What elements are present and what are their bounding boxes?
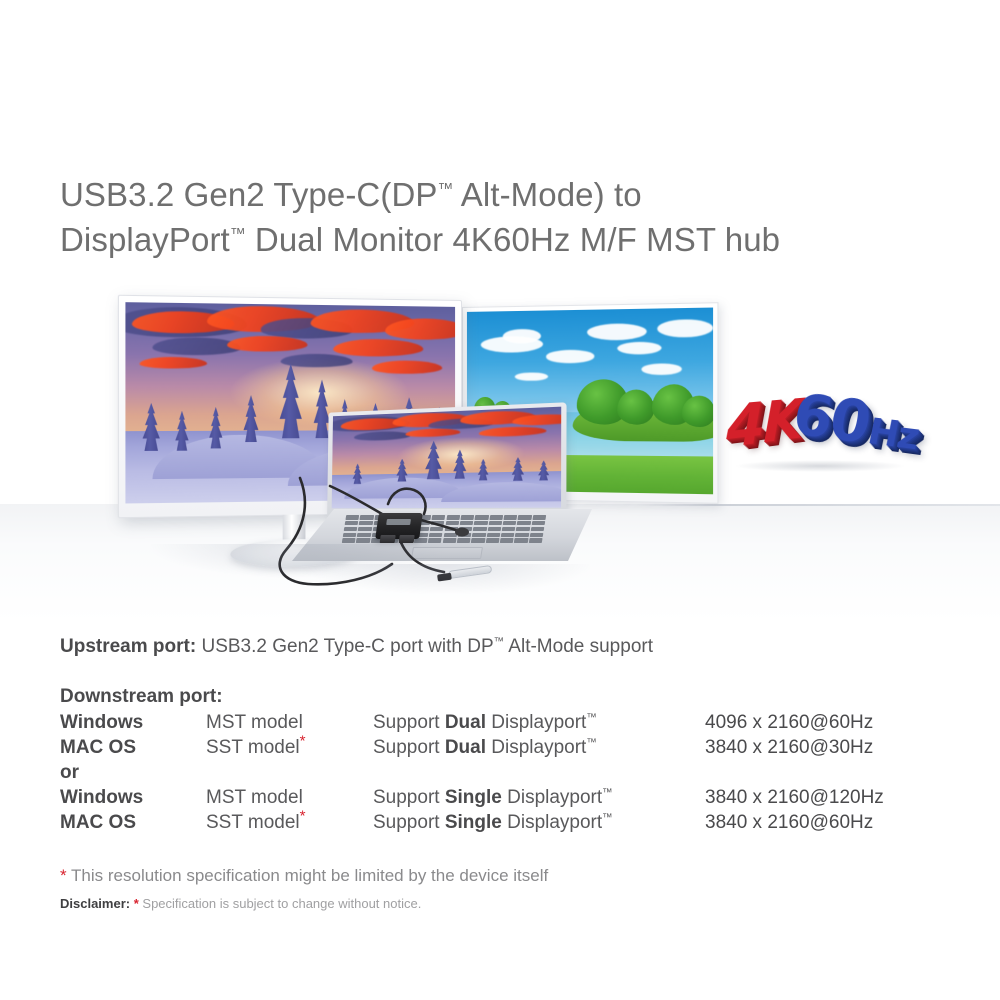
hub-brand-label <box>386 519 411 525</box>
downstream-spec-table: Windows MST model Support Dual Displaypo… <box>60 710 884 835</box>
table-row: MAC OS SST model* Support Single Display… <box>60 810 884 835</box>
trademark-icon: ™ <box>586 713 596 724</box>
footnote-line: * This resolution specification might be… <box>60 866 548 886</box>
laptop-reflection <box>300 564 590 594</box>
row-model: SST model* <box>206 810 373 835</box>
specifications-section: Upstream port: USB3.2 Gen2 Type-C port w… <box>60 634 960 660</box>
trademark-icon: ™ <box>230 226 246 243</box>
table-row: Windows MST model Support Dual Displaypo… <box>60 710 884 735</box>
trademark-icon: ™ <box>438 181 454 198</box>
badge-60hz-text: 60Hz <box>794 385 917 458</box>
trademark-icon: ™ <box>602 788 612 799</box>
downstream-port-heading: Downstream port: <box>60 686 223 708</box>
disclaimer-text: Specification is subject to change witho… <box>139 896 422 911</box>
disclaimer-label: Disclaimer: <box>60 896 130 911</box>
row-support: Support Dual Displayport™ <box>373 710 705 735</box>
badge-shadow <box>734 460 906 472</box>
table-row-or: or <box>60 760 884 785</box>
upstream-port-label: Upstream port: <box>60 636 196 657</box>
row-model: MST model <box>206 785 373 810</box>
row-model: SST model* <box>206 735 373 760</box>
upstream-port-line: Upstream port: USB3.2 Gen2 Type-C port w… <box>60 634 960 660</box>
row-resolution: 4096 x 2160@60Hz <box>705 710 884 735</box>
row-resolution: 3840 x 2160@120Hz <box>705 785 884 810</box>
product-spec-page: USB3.2 Gen2 Type-C(DP™ Alt-Mode) to Disp… <box>0 0 1000 1000</box>
row-resolution: 3840 x 2160@30Hz <box>705 735 884 760</box>
title-line-1-suffix: Alt-Mode) to <box>453 176 641 213</box>
title-line-2-suffix: Dual Monitor 4K60Hz M/F MST hub <box>246 221 780 258</box>
title-line-1: USB3.2 Gen2 Type-C(DP™ Alt-Mode) to <box>60 172 960 217</box>
disclaimer-line: Disclaimer: * Specification is subject t… <box>60 896 421 911</box>
title-line-1-text: USB3.2 Gen2 Type-C(DP <box>60 176 438 213</box>
table-row: Windows MST model Support Single Display… <box>60 785 884 810</box>
footnote-asterisk: * <box>300 733 306 750</box>
footnote-asterisk: * <box>300 808 306 825</box>
trademark-icon: ™ <box>494 637 504 648</box>
trademark-icon: ™ <box>586 738 596 749</box>
title-line-2-text: DisplayPort <box>60 221 230 258</box>
row-support: Support Single Displayport™ <box>373 810 705 835</box>
hub-port-2 <box>399 535 415 543</box>
row-os: Windows <box>60 710 206 735</box>
or-separator-label: or <box>60 760 206 785</box>
row-resolution: 3840 x 2160@60Hz <box>705 810 884 835</box>
upstream-port-value: USB3.2 Gen2 Type-C port with DP <box>196 636 493 657</box>
mst-hub-device <box>375 513 423 539</box>
table-row: MAC OS SST model* Support Dual Displaypo… <box>60 735 884 760</box>
footnote-text: This resolution specification might be l… <box>67 866 549 885</box>
hub-port-1 <box>380 535 396 543</box>
resolution-badge: 4K 60Hz <box>726 378 916 474</box>
row-model: MST model <box>206 710 373 735</box>
badge-4k-text: 4K <box>726 393 801 457</box>
title-line-2: DisplayPort™ Dual Monitor 4K60Hz M/F MST… <box>60 217 960 262</box>
page-title: USB3.2 Gen2 Type-C(DP™ Alt-Mode) to Disp… <box>60 172 960 262</box>
row-os: MAC OS <box>60 735 206 760</box>
trademark-icon: ™ <box>602 813 612 824</box>
footnote-asterisk: * <box>60 866 67 885</box>
upstream-port-value-suffix: Alt-Mode support <box>504 636 653 657</box>
row-os: Windows <box>60 785 206 810</box>
product-hero-image: 4K 60Hz <box>0 282 1000 622</box>
row-support: Support Dual Displayport™ <box>373 735 705 760</box>
row-support: Support Single Displayport™ <box>373 785 705 810</box>
row-os: MAC OS <box>60 810 206 835</box>
